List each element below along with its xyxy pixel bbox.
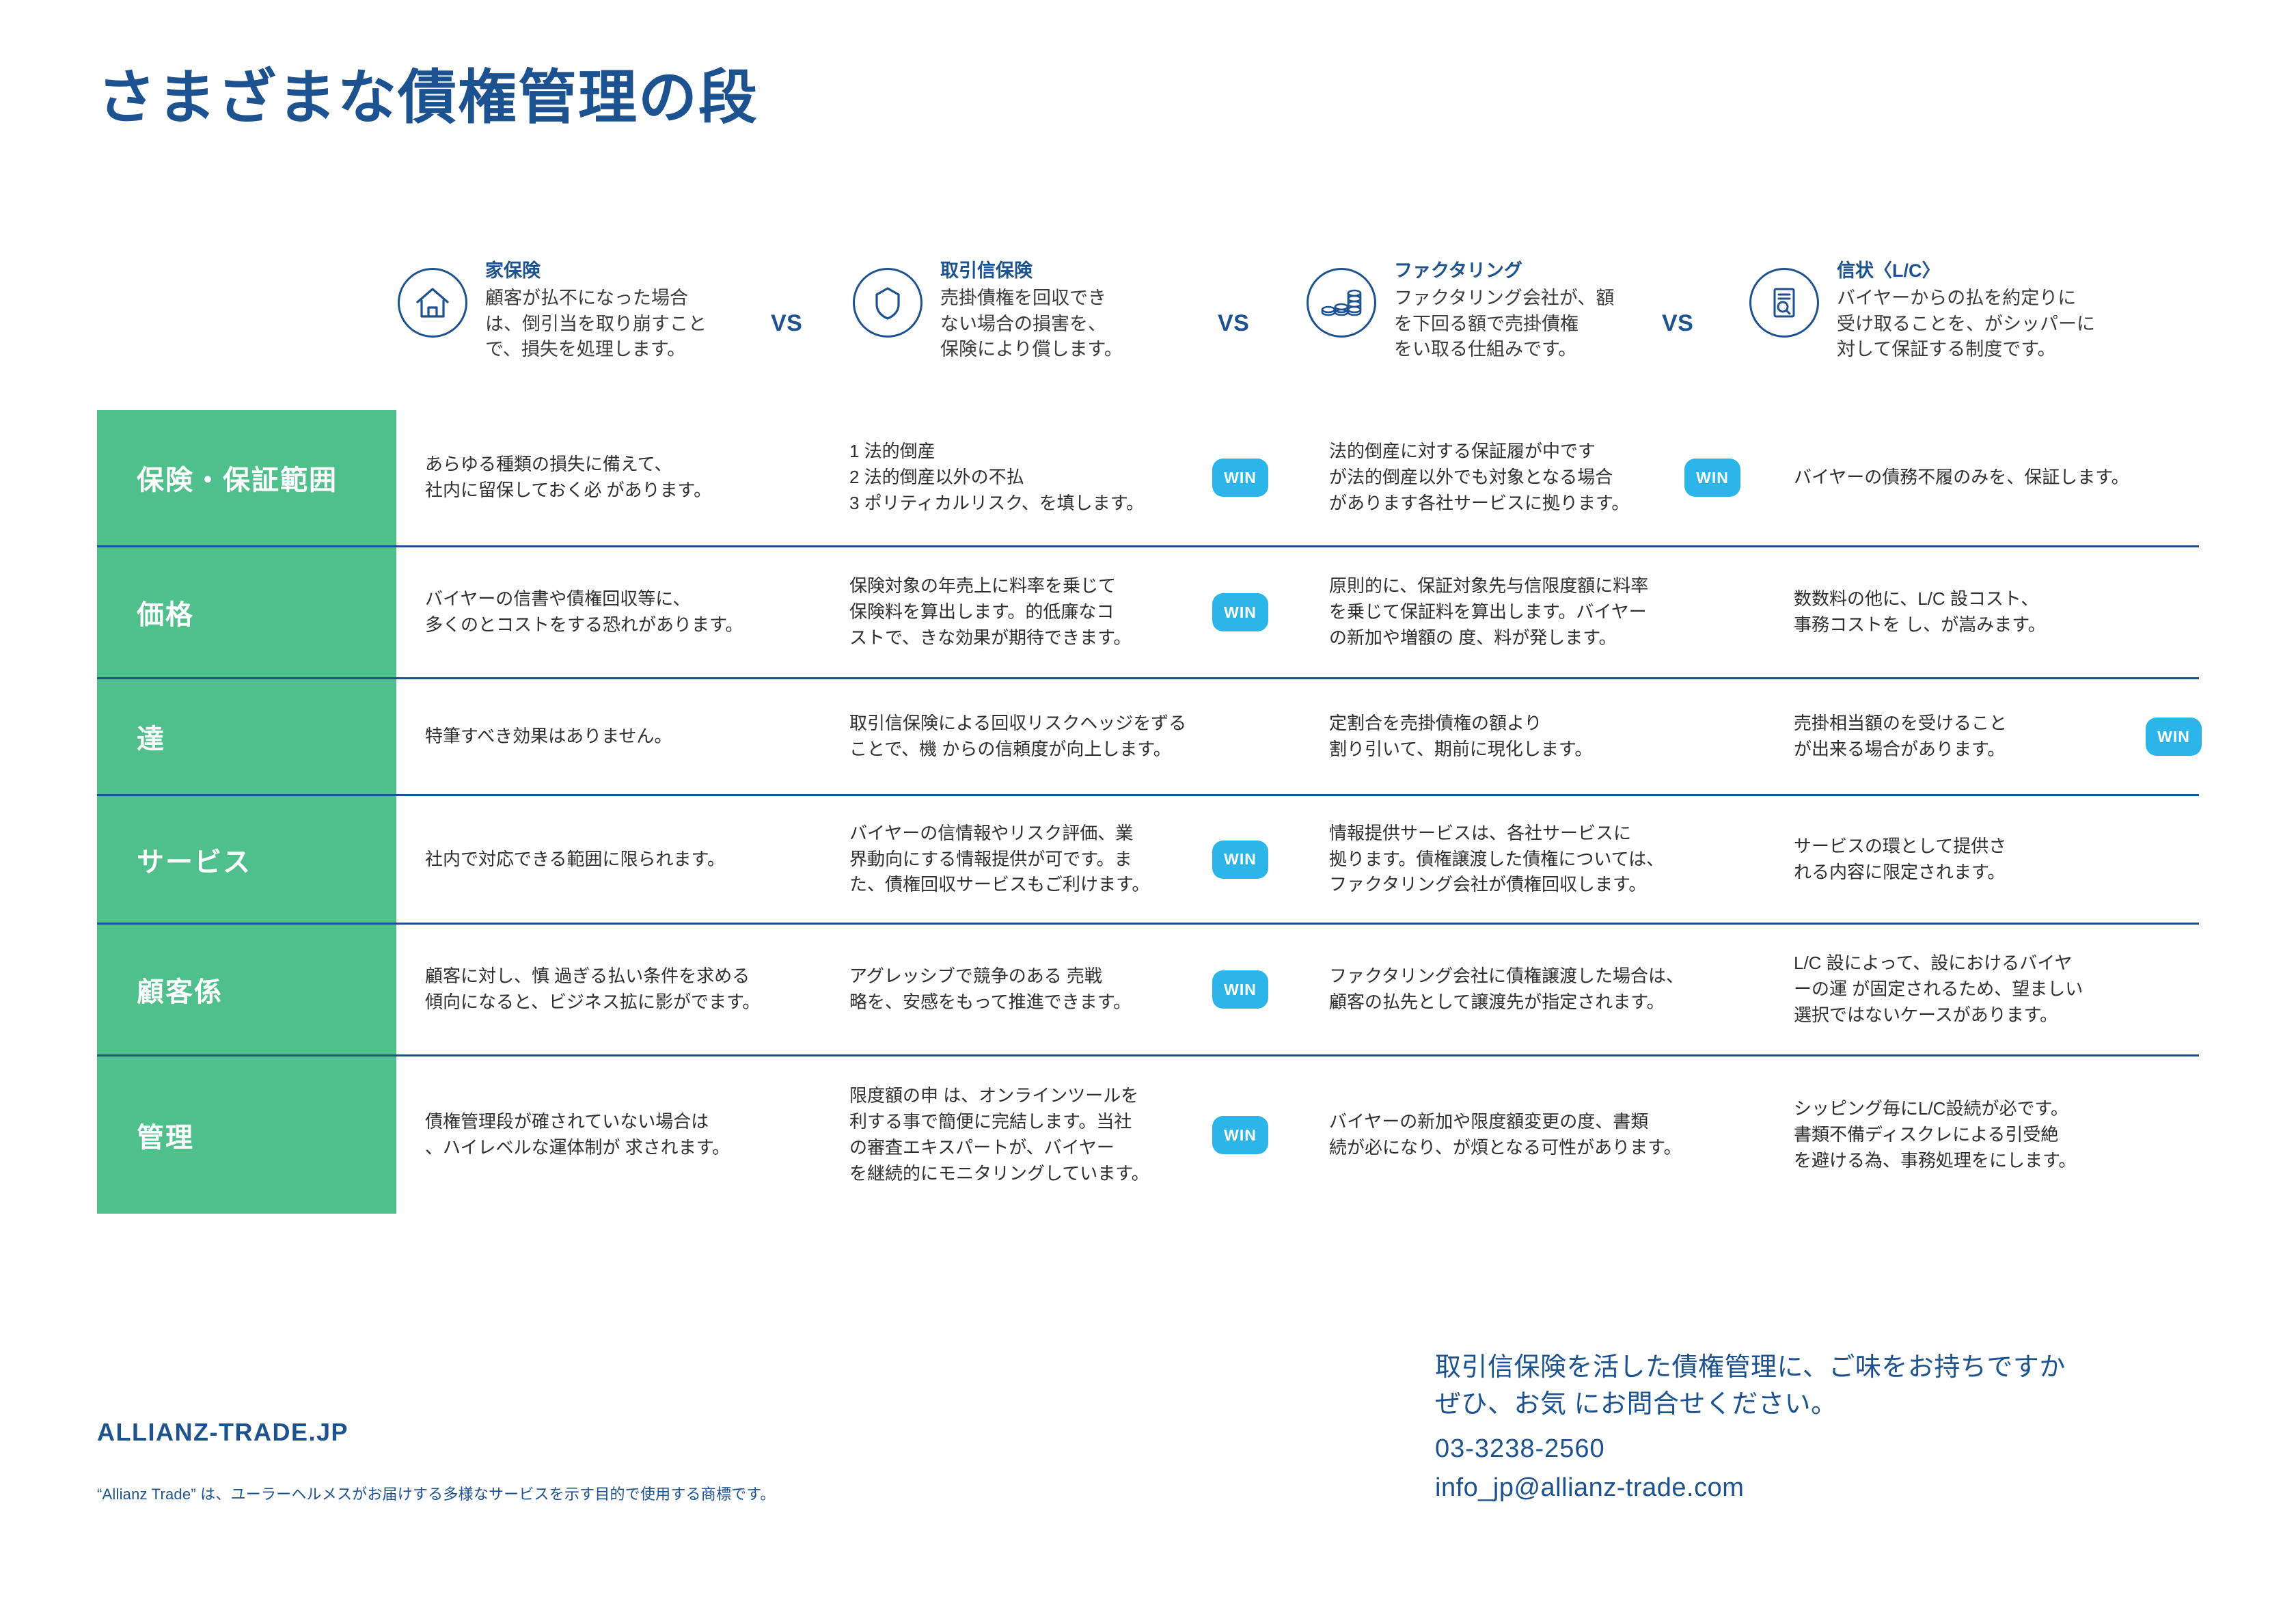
- cell-factoring: ファクタリング会社に債権譲渡した場合は、 顧客の払先として譲渡先が指定されます。: [1295, 925, 1760, 1054]
- header-title: ファクタリング: [1394, 258, 1614, 283]
- row-label: 保険・保証範囲: [97, 410, 396, 545]
- header-description: 売掛債権を回収でき ない場合の損害を、 保険により償します。: [940, 286, 1123, 362]
- cell-home-insurance: 社内で対応できる範囲に限られます。: [396, 796, 837, 923]
- contact-phone[interactable]: 03-3238-2560: [1435, 1434, 2066, 1464]
- document-search-icon: [1749, 268, 1819, 338]
- header-title: 取引信保険: [940, 258, 1123, 283]
- win-badge: WIN: [1684, 459, 1740, 497]
- vs-separator-3: VS: [1662, 310, 1693, 337]
- table-row: 管理 債権管理段が確されていない場合は 、ハイレベルな運体制が 求されます。 限…: [97, 1054, 2199, 1214]
- cell-factoring: 情報提供サービスは、各社サービスに 拠ります。債権譲渡した債権については、 ファ…: [1295, 796, 1760, 923]
- cell-factoring: バイヤーの新加や限度額変更の度、書類 続が必になり、が煩となる可性があります。: [1295, 1056, 1760, 1214]
- page-title: さまざまな債権管理の段: [97, 66, 758, 131]
- coins-icon: [1307, 268, 1376, 338]
- table-row: 達 特筆すべき効果はありません。 取引信保険による回収リスクヘッジをずる ことで…: [97, 677, 2199, 794]
- contact-cta: 取引信保険を活した債権管理に、ご味をお持ちですか ぜひ、お気 にお問合せください…: [1435, 1350, 2066, 1423]
- cell-home-insurance: あらゆる種類の損失に備えて、 社内に留保しておく必 があります。: [396, 410, 837, 545]
- row-label: サービス: [97, 796, 396, 923]
- contact-email[interactable]: info_jp@allianz-trade.com: [1435, 1473, 2066, 1503]
- row-cells: あらゆる種類の損失に備えて、 社内に留保しておく必 があります。 1 法的倒産 …: [396, 410, 2199, 545]
- table-row: 価格 バイヤーの信書や債権回収等に、 多くのとコストをする恐れがあります。 保険…: [97, 545, 2199, 677]
- comparison-table: 保険・保証範囲 あらゆる種類の損失に備えて、 社内に留保しておく必 があります。…: [97, 410, 2199, 1214]
- header-column-trade-credit-insurance: 取引信保険 売掛債権を回収でき ない場合の損害を、 保険により償します。: [853, 253, 1235, 362]
- cell-home-insurance: バイヤーの信書や債権回収等に、 多くのとコストをする恐れがあります。: [396, 547, 837, 677]
- comparison-header-row: 家保険 顧客が払不になった場合 は、倒引当を取り崩すこと で、損失を処理します。…: [0, 253, 2296, 362]
- header-column-home-insurance: 家保険 顧客が払不になった場合 は、倒引当を取り崩すこと で、損失を処理します。: [398, 253, 780, 362]
- cell-home-insurance: 顧客に対し、慎 過ぎる払い条件を求める 傾向になると、ビジネス拡に影がでます。: [396, 925, 837, 1054]
- table-row: 保険・保証範囲 あらゆる種類の損失に備えて、 社内に留保しておく必 があります。…: [97, 410, 2199, 545]
- win-badge: WIN: [2146, 718, 2202, 756]
- vs-separator-2: VS: [1218, 310, 1249, 337]
- header-description: 顧客が払不になった場合 は、倒引当を取り崩すこと で、損失を処理します。: [485, 286, 707, 362]
- row-label: 価格: [97, 547, 396, 677]
- row-cells: 社内で対応できる範囲に限られます。 バイヤーの信情報やリスク評価、業 界動向にす…: [396, 796, 2199, 923]
- footer-left: ALLIANZ-TRADE.JP “Allianz Trade” は、ユーラーヘ…: [97, 1418, 776, 1504]
- vs-separator-1: VS: [771, 310, 802, 337]
- row-label: 達: [97, 679, 396, 794]
- cell-letter-of-credit: シッピング毎にL/C設続が必です。 書類不備ディスクレによる引受絶 を避ける為、…: [1760, 1056, 2199, 1214]
- cell-letter-of-credit: L/C 設によって、設におけるバイヤ ーの運 が固定されるため、望ましい 選択で…: [1760, 925, 2199, 1054]
- win-badge: WIN: [1212, 841, 1268, 879]
- header-title: 信状〈L/C〉: [1837, 258, 2095, 283]
- cell-letter-of-credit: 数数料の他に、L/C 設コスト、 事務コストを し、が嵩みます。: [1760, 547, 2199, 677]
- shield-icon: [853, 268, 922, 338]
- header-description: ファクタリング会社が、額 を下回る額で売掛債権 をい取る仕組みです。: [1394, 286, 1614, 362]
- table-row: 顧客係 顧客に対し、慎 過ぎる払い条件を求める 傾向になると、ビジネス拡に影がで…: [97, 923, 2199, 1054]
- header-column-factoring: ファクタリング ファクタリング会社が、額 を下回る額で売掛債権 をい取る仕組みで…: [1307, 253, 1703, 362]
- cell-home-insurance: 債権管理段が確されていない場合は 、ハイレベルな運体制が 求されます。: [396, 1056, 837, 1214]
- cell-factoring: 定割合を売掛債権の額より 割り引いて、期前に現化します。: [1295, 679, 1760, 794]
- header-title: 家保険: [485, 258, 707, 283]
- row-label: 管理: [97, 1056, 396, 1214]
- trademark-note: “Allianz Trade” は、ユーラーヘルメスがお届けする多様なサービスを…: [97, 1482, 776, 1504]
- row-label: 顧客係: [97, 925, 396, 1054]
- cell-letter-of-credit: サービスの環として提供さ れる内容に限定されます。: [1760, 796, 2199, 923]
- cell-letter-of-credit: 売掛相当額のを受けること が出来る場合があります。: [1760, 679, 2199, 794]
- brand-website[interactable]: ALLIANZ-TRADE.JP: [97, 1418, 776, 1447]
- header-column-letter-of-credit: 信状〈L/C〉 バイヤーからの払を約定りに 受け取ることを、がシッパーに 対して…: [1749, 253, 2173, 362]
- row-cells: 特筆すべき効果はありません。 取引信保険による回収リスクヘッジをずる ことで、機…: [396, 679, 2199, 794]
- header-description: バイヤーからの払を約定りに 受け取ることを、がシッパーに 対して保証する制度です…: [1837, 286, 2095, 362]
- house-icon: [398, 268, 467, 338]
- win-badge: WIN: [1212, 459, 1268, 497]
- cell-trade-credit-insurance: 取引信保険による回収リスクヘッジをずる ことで、機 からの信頼度が向上します。: [837, 679, 1295, 794]
- win-badge: WIN: [1212, 1116, 1268, 1154]
- cell-factoring: 原則的に、保証対象先与信限度額に料率 を乗じて保証料を算出します。バイヤー の新…: [1295, 547, 1760, 677]
- win-badge: WIN: [1212, 970, 1268, 1009]
- row-cells: バイヤーの信書や債権回収等に、 多くのとコストをする恐れがあります。 保険対象の…: [396, 547, 2199, 677]
- win-badge: WIN: [1212, 593, 1268, 631]
- row-cells: 債権管理段が確されていない場合は 、ハイレベルな運体制が 求されます。 限度額の…: [396, 1056, 2199, 1214]
- row-cells: 顧客に対し、慎 過ぎる払い条件を求める 傾向になると、ビジネス拡に影がでます。 …: [396, 925, 2199, 1054]
- cell-letter-of-credit: バイヤーの債務不履のみを、保証します。: [1760, 410, 2199, 545]
- cell-home-insurance: 特筆すべき効果はありません。: [396, 679, 837, 794]
- table-row: サービス 社内で対応できる範囲に限られます。 バイヤーの信情報やリスク評価、業 …: [97, 794, 2199, 923]
- footer-contact: 取引信保険を活した債権管理に、ご味をお持ちですか ぜひ、お気 にお問合せください…: [1435, 1350, 2066, 1503]
